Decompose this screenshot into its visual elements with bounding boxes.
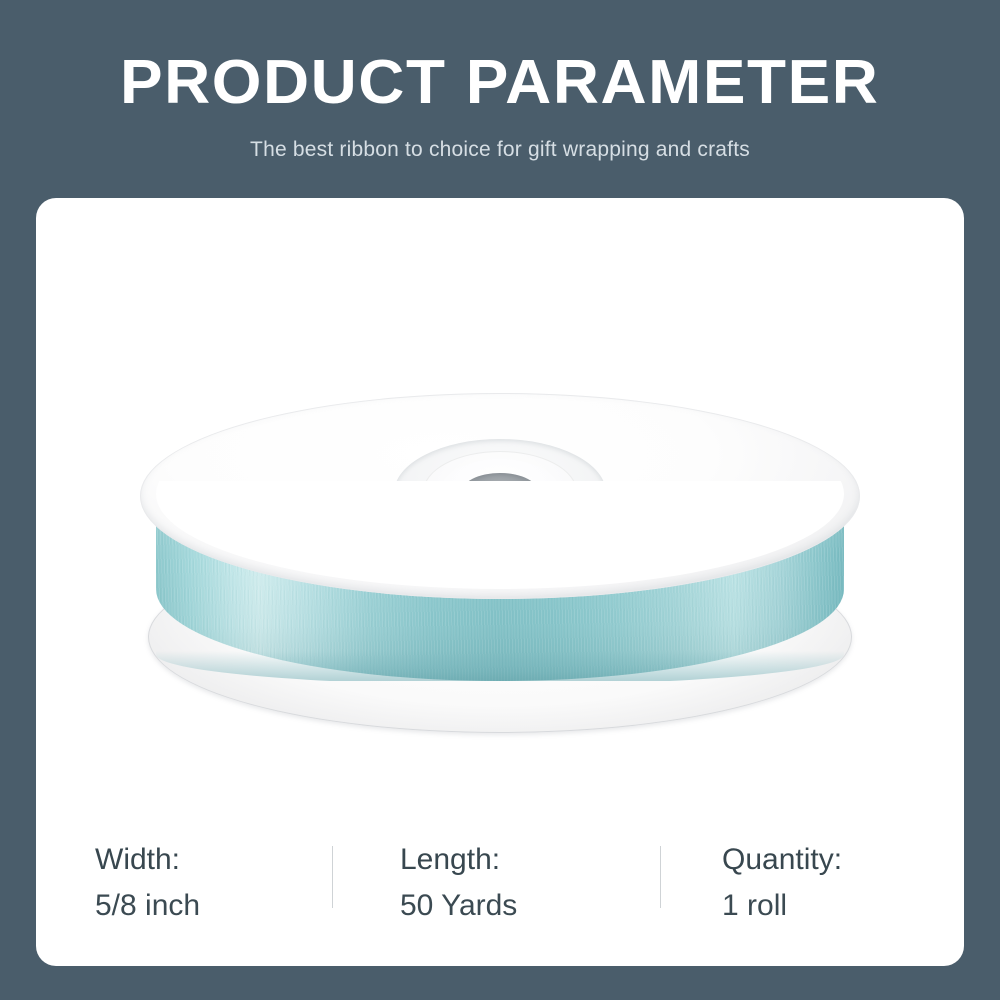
spec-label-quantity: Quantity:	[722, 842, 964, 877]
spec-label-length: Length:	[400, 842, 660, 877]
spec-divider-1	[332, 846, 333, 908]
spec-value-width: 5/8 inch	[95, 888, 332, 923]
product-card: Width: 5/8 inch Length: 50 Yards Quantit…	[36, 198, 964, 966]
spec-value-length: 50 Yards	[400, 888, 660, 923]
spec-divider-2	[660, 846, 661, 908]
specs-row: Width: 5/8 inch Length: 50 Yards Quantit…	[36, 828, 964, 948]
page-title: PRODUCT PARAMETER	[120, 52, 879, 114]
product-image-stage	[36, 198, 964, 798]
ribbon-spool-image	[140, 393, 860, 753]
page-subtitle: The best ribbon to choice for gift wrapp…	[250, 138, 750, 162]
spec-item-quantity: Quantity: 1 roll	[660, 828, 964, 924]
spec-item-length: Length: 50 Yards	[332, 828, 660, 924]
spec-label-width: Width:	[95, 842, 332, 877]
spec-item-width: Width: 5/8 inch	[36, 828, 332, 924]
ribbon-wound-body	[156, 481, 844, 681]
header-banner: PRODUCT PARAMETER The best ribbon to cho…	[0, 0, 1000, 198]
ribbon-bottom-lip	[156, 651, 844, 681]
spec-value-quantity: 1 roll	[722, 888, 964, 923]
